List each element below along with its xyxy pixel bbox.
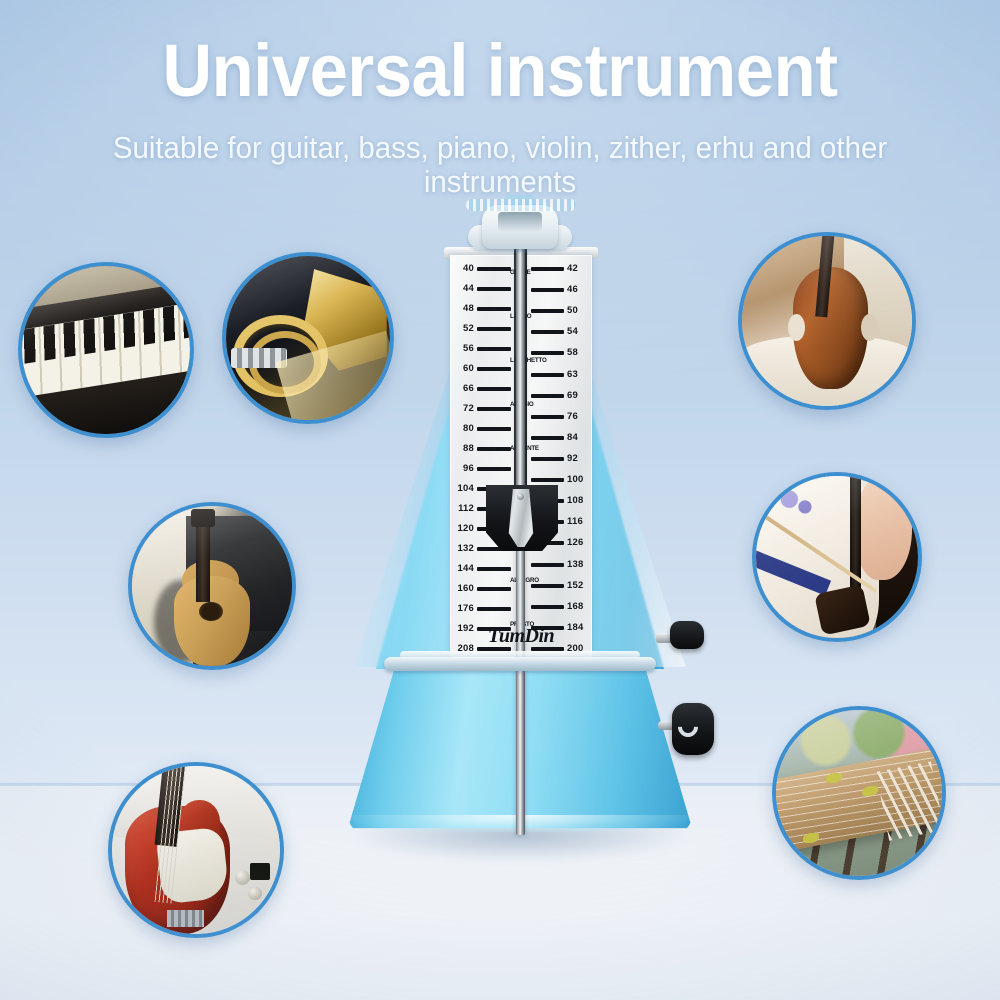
brand-label: TumDin <box>450 625 592 648</box>
tempo-tick: 80 <box>453 423 511 434</box>
tempo-tick-bar <box>477 267 511 271</box>
tempo-tick: 144 <box>453 563 511 574</box>
tempo-tick-value: 66 <box>453 384 474 394</box>
tempo-tick-value: 54 <box>567 327 589 337</box>
tempo-tick: 42 <box>531 263 589 274</box>
tempo-tick: 160 <box>453 583 511 594</box>
instrument-bubble-bass-guitar <box>108 762 284 938</box>
tempo-tick-bar <box>477 347 511 351</box>
tempo-tick-value: 152 <box>567 581 589 591</box>
tempo-tick: 40 <box>453 263 511 274</box>
tempo-tick-bar <box>477 587 511 591</box>
side-knob[interactable] <box>670 621 704 649</box>
tempo-tick-value: 48 <box>453 304 474 314</box>
tempo-tick: 66 <box>453 383 511 394</box>
tempo-tick: 84 <box>531 432 589 443</box>
tempo-tick: 96 <box>453 463 511 474</box>
tempo-tick-value: 84 <box>567 433 589 443</box>
tempo-tick-value: 80 <box>453 424 474 434</box>
tempo-tick-bar <box>477 287 511 291</box>
instrument-bubble-acoustic-guitar <box>128 502 296 670</box>
tempo-tick-value: 40 <box>453 264 474 274</box>
instrument-bubble-guzheng <box>772 706 946 880</box>
tempo-tick-bar <box>531 373 564 377</box>
tempo-tick-bar <box>477 367 511 371</box>
tempo-tick-value: 56 <box>453 344 474 354</box>
tempo-tick-value: 76 <box>567 412 589 422</box>
tempo-tick-bar <box>531 478 564 482</box>
tempo-tick-bar <box>477 447 511 451</box>
tempo-tick: 44 <box>453 283 511 294</box>
tempo-tick-bar <box>531 309 564 313</box>
tempo-tick-bar <box>531 584 564 588</box>
tempo-tick-value: 46 <box>567 285 589 295</box>
instrument-bubble-violin <box>738 232 916 410</box>
tempo-tick-value: 50 <box>567 306 589 316</box>
tempo-tick: 50 <box>531 305 589 316</box>
tempo-tick: 60 <box>453 363 511 374</box>
tempo-tick-bar <box>531 267 564 271</box>
tempo-tick-value: 69 <box>567 391 589 401</box>
sliding-weight-screw-icon <box>517 493 524 500</box>
instrument-bubble-erhu <box>752 472 922 642</box>
tempo-tick-value: 42 <box>567 264 589 274</box>
tempo-tick-value: 100 <box>567 475 589 485</box>
tempo-tick: 152 <box>531 580 589 591</box>
tempo-tick: 54 <box>531 326 589 337</box>
tempo-tick-bar <box>477 567 511 571</box>
tempo-tick-bar <box>531 605 564 609</box>
tempo-tick-bar <box>531 351 564 355</box>
tempo-tick: 168 <box>531 601 589 612</box>
tempo-tick-bar <box>477 327 511 331</box>
tempo-tick-bar <box>477 607 511 611</box>
tempo-tick-value: 112 <box>453 504 474 514</box>
tempo-tick-value: 116 <box>567 517 589 527</box>
tempo-tick-value: 108 <box>567 496 589 506</box>
tempo-tick-value: 63 <box>567 370 589 380</box>
tempo-tick-bar <box>477 407 511 411</box>
tempo-tick-value: 120 <box>453 524 474 534</box>
cover-comb-ridges-icon <box>466 199 576 211</box>
tempo-tick: 92 <box>531 453 589 464</box>
tempo-tick-value: 88 <box>453 444 474 454</box>
tempo-tick-bar <box>531 394 564 398</box>
metronome-product: 4044485256606672808896104112120132144160… <box>340 195 700 915</box>
page-title: Universal instrument <box>35 28 965 113</box>
tempo-tick-value: 168 <box>567 602 589 612</box>
tempo-tick-value: 44 <box>453 284 474 294</box>
top-clip-slot <box>498 212 542 231</box>
tempo-tick-value: 104 <box>453 484 474 494</box>
tempo-tick-value: 72 <box>453 404 474 414</box>
tempo-tick: 69 <box>531 390 589 401</box>
tempo-tick: 58 <box>531 347 589 358</box>
tempo-tick-value: 138 <box>567 560 589 570</box>
tempo-tick-value: 92 <box>567 454 589 464</box>
tempo-tick: 46 <box>531 284 589 295</box>
product-hero-image: Universal instrument Suitable for guitar… <box>0 0 1000 1000</box>
tempo-tick-value: 160 <box>453 584 474 594</box>
tempo-tick-bar <box>477 467 511 471</box>
page-subtitle: Suitable for guitar, bass, piano, violin… <box>82 131 918 199</box>
tempo-tick: 56 <box>453 343 511 354</box>
tempo-tick-value: 58 <box>567 348 589 358</box>
tempo-tick: 76 <box>531 411 589 422</box>
tempo-tick: 48 <box>453 303 511 314</box>
tempo-tick-value: 126 <box>567 538 589 548</box>
tempo-tick-bar <box>477 427 511 431</box>
tempo-tick: 52 <box>453 323 511 334</box>
tempo-tick-bar <box>531 563 564 567</box>
instrument-bubble-piano <box>18 262 194 438</box>
tempo-tick-value: 60 <box>453 364 474 374</box>
tempo-scale-left-column: 4044485256606672808896104112120132144160… <box>453 263 511 655</box>
tempo-tick-value: 52 <box>453 324 474 334</box>
tempo-tick-bar <box>531 457 564 461</box>
tempo-tick-bar <box>477 387 511 391</box>
tempo-tick-value: 176 <box>453 604 474 614</box>
tempo-tick-value: 132 <box>453 544 474 554</box>
tempo-tick-bar <box>531 415 564 419</box>
tempo-tick-bar <box>531 436 564 440</box>
tempo-tick: 88 <box>453 443 511 454</box>
tempo-tick-bar <box>531 288 564 292</box>
tempo-tick: 176 <box>453 603 511 614</box>
tempo-tick: 100 <box>531 474 589 485</box>
tempo-tick: 138 <box>531 559 589 570</box>
tempo-scale-right-column: 4246505458636976849210010811612613815216… <box>531 263 589 655</box>
body-lip <box>384 657 656 671</box>
tempo-tick-value: 144 <box>453 564 474 574</box>
tempo-tick-bar <box>477 307 511 311</box>
tempo-tick: 72 <box>453 403 511 414</box>
tempo-tick-value: 96 <box>453 464 474 474</box>
tempo-tick-bar <box>531 330 564 334</box>
tempo-tick: 63 <box>531 369 589 380</box>
